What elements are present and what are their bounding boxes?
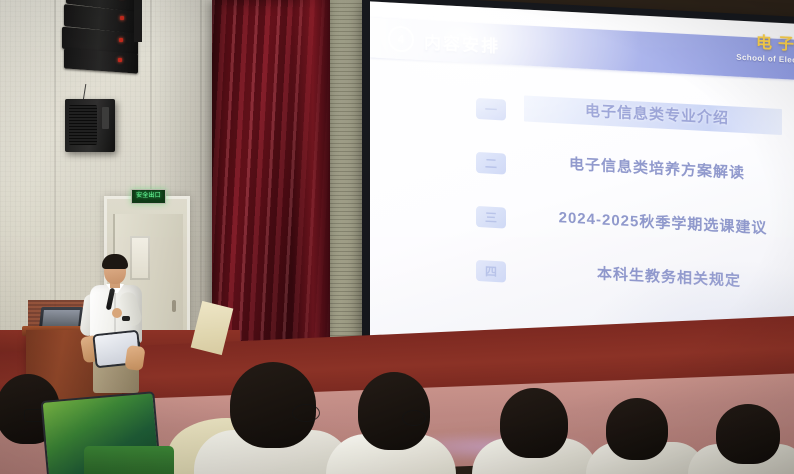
audience-head bbox=[606, 398, 668, 460]
audience-head bbox=[716, 404, 780, 464]
wall-speaker bbox=[65, 99, 115, 152]
agenda-number-badge-1: 一 bbox=[476, 97, 506, 120]
seat-back bbox=[84, 446, 174, 474]
audience-hand bbox=[124, 345, 145, 371]
school-logo-english: School of Elect bbox=[736, 53, 794, 65]
lecture-hall-photo: 安全出口 4 内容安排 电子 School of Elect bbox=[0, 0, 794, 474]
agenda-list: 一 电子信息类专业介绍 二 电子信息类培养方案解读 三 bbox=[370, 75, 794, 313]
agenda-label-3: 2024-2025秋季学期选课建议 bbox=[534, 204, 792, 244]
agenda-label-4: 本科生教务相关规定 bbox=[540, 258, 794, 298]
door-handle bbox=[172, 300, 176, 312]
stage-curtain-edge bbox=[292, 0, 330, 382]
line-array-speaker-stack bbox=[62, 0, 150, 76]
presenter-hand bbox=[112, 308, 122, 318]
agenda-label-1: 电子信息类专业介绍 bbox=[528, 96, 786, 136]
presenter bbox=[82, 252, 150, 392]
eyeglasses-icon bbox=[402, 410, 426, 426]
audience-head bbox=[500, 388, 568, 458]
emergency-exit-sign: 安全出口 bbox=[131, 189, 166, 204]
agenda-number-badge-3: 三 bbox=[476, 205, 506, 228]
school-logo: 电子 School of Elect bbox=[736, 35, 794, 66]
slide-title: 内容安排 bbox=[424, 28, 500, 57]
agenda-number-badge-2: 二 bbox=[476, 151, 506, 174]
eyeglasses-icon bbox=[292, 404, 320, 422]
section-number-icon: 4 bbox=[388, 25, 414, 52]
section-number-glyph: 4 bbox=[398, 32, 405, 46]
school-logo-chinese: 电子 bbox=[736, 35, 794, 55]
agenda-number-badge-4: 四 bbox=[476, 259, 506, 282]
presenter-hair bbox=[102, 254, 128, 269]
exit-sign-label: 安全出口 bbox=[132, 190, 165, 203]
slide-header-banner: 4 内容安排 电子 School of Elect bbox=[370, 17, 794, 79]
presenter-wristwatch bbox=[122, 316, 130, 321]
agenda-label-2: 电子信息类培养方案解读 bbox=[528, 150, 786, 190]
